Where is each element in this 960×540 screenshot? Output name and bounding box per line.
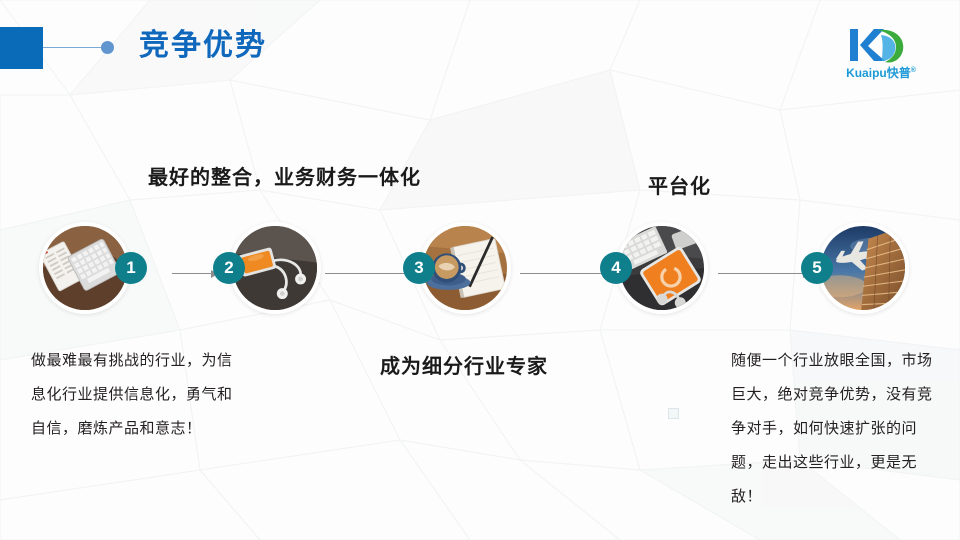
paragraph-right: 随便一个行业放眼全国，市场巨大，绝对竞争优势，没有竞争对手，如何快速扩张的问题，…: [731, 344, 946, 514]
logo-wordmark: Kuaipu快普®: [822, 64, 940, 80]
step-badge-2: 2: [213, 252, 245, 284]
heading-node-4: 平台化: [648, 170, 711, 199]
arrow-1-to-2: [172, 268, 218, 278]
slide-canvas: 竞争优势 Kuaipu快普® 最好的整合，业务财务一体化 平台化 成为细分行业专…: [0, 0, 960, 540]
arrow-shaft: [718, 273, 810, 274]
heading-node-1: 最好的整合，业务财务一体化: [148, 161, 421, 190]
logo-latin-text: Kuaipu: [846, 66, 887, 80]
process-node-2[interactable]: 2: [229, 222, 321, 314]
step-badge-5: 5: [801, 252, 833, 284]
arrow-4-to-5: [718, 268, 810, 278]
company-logo: Kuaipu快普®: [822, 26, 940, 82]
arrow-shaft: [325, 273, 415, 274]
step-badge-4: 4: [600, 252, 632, 284]
heading-node-3: 成为细分行业专家: [380, 350, 548, 379]
process-node-5[interactable]: 5: [817, 222, 909, 314]
background-artifact: [668, 408, 679, 419]
process-node-3[interactable]: 3: [419, 222, 511, 314]
paragraph-left: 做最难最有挑战的行业，为信息化行业提供信息化，勇气和自信，磨炼产品和意志！: [31, 344, 246, 446]
process-node-4[interactable]: 4: [616, 222, 708, 314]
title-accent-square: [0, 27, 43, 69]
arrow-2-to-3: [325, 268, 415, 278]
logo-registered-mark: ®: [911, 67, 916, 74]
logo-chinese-text: 快普: [887, 66, 911, 80]
title-connector-dot: [101, 41, 114, 54]
page-title: 竞争优势: [139, 26, 267, 66]
arrow-3-to-4: [520, 268, 610, 278]
arrow-shaft: [520, 273, 610, 274]
step-badge-3: 3: [403, 252, 435, 284]
process-node-1[interactable]: 1: [39, 222, 131, 314]
step-badge-1: 1: [115, 252, 147, 284]
title-connector-line: [43, 47, 105, 48]
logo-mark-icon: [822, 26, 940, 66]
